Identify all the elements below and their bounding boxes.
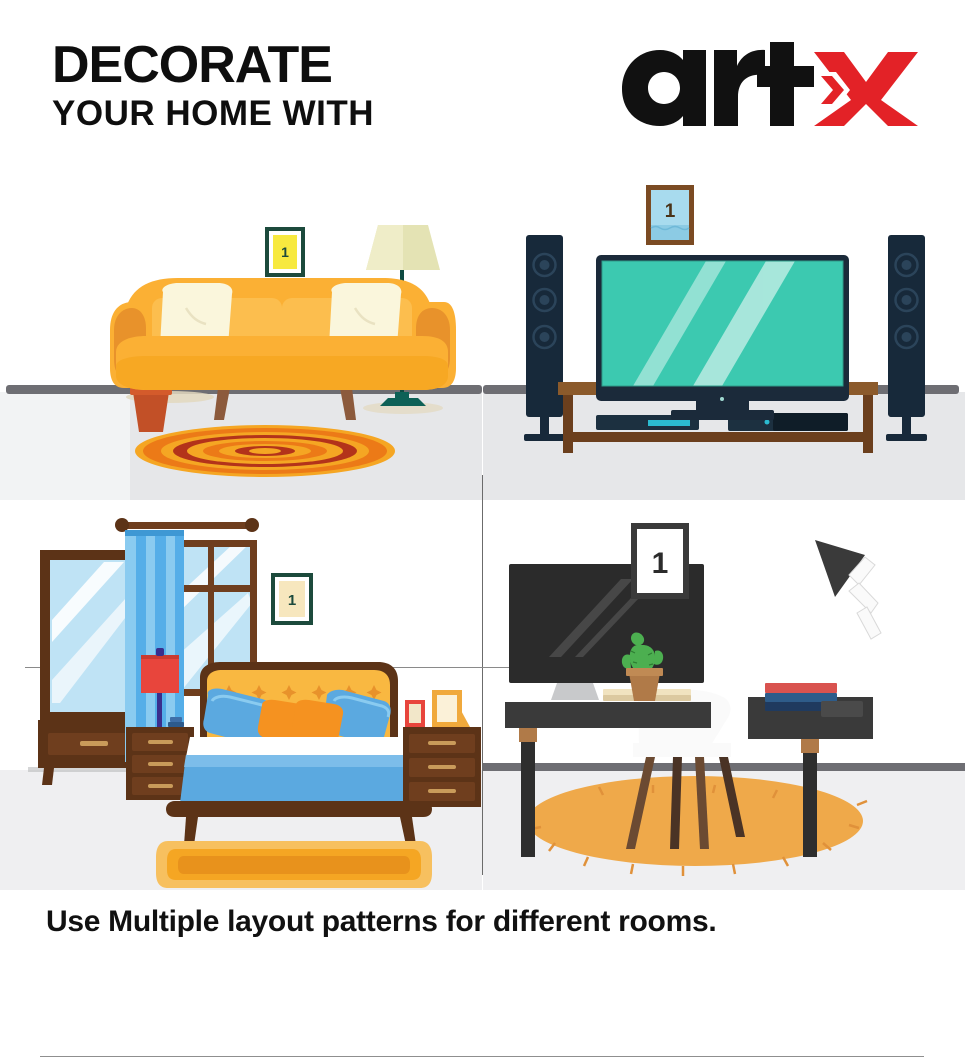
wall-art-frame-office[interactable]: 1 bbox=[631, 523, 689, 599]
headline-line-1: DECORATE bbox=[52, 38, 374, 92]
area-rug bbox=[156, 841, 432, 888]
scene-living-room: 1 bbox=[0, 170, 482, 500]
pillow-orange-right bbox=[292, 700, 343, 743]
bedroom-svg: 1 bbox=[0, 505, 482, 890]
desk-lamp bbox=[815, 540, 881, 645]
frame-label-living: 1 bbox=[281, 244, 289, 260]
nightstand-right bbox=[403, 727, 481, 807]
round-rug bbox=[135, 425, 395, 477]
home-office-svg: 1 bbox=[483, 505, 965, 890]
wall-art-frame-bedroom[interactable]: 1 bbox=[271, 573, 313, 625]
logo-letter-a bbox=[622, 50, 706, 126]
room-scenes-area: 1 bbox=[0, 170, 965, 890]
wall-art-frame-tv[interactable]: 1 bbox=[646, 185, 694, 245]
headline-line-2: YOUR HOME WITH bbox=[52, 94, 374, 134]
curtain-rod bbox=[115, 518, 259, 532]
tower-speaker-right bbox=[886, 235, 927, 441]
logo-letter-t bbox=[757, 42, 814, 126]
frame-label-office: 1 bbox=[652, 547, 669, 580]
artx-logo bbox=[618, 42, 918, 128]
artx-logo-svg bbox=[618, 42, 918, 128]
living-room-svg: 1 bbox=[0, 170, 482, 500]
living-room-floor-light bbox=[0, 392, 130, 500]
promo-poster: DECORATE YOUR HOME WITH bbox=[0, 0, 965, 1000]
logo-letter-x bbox=[814, 52, 918, 126]
poster-header: DECORATE YOUR HOME WITH bbox=[0, 0, 965, 170]
scene-bedroom: 1 bbox=[0, 505, 482, 890]
scene-home-office: 1 bbox=[483, 505, 965, 890]
scene-tv-room: 1 bbox=[483, 170, 965, 500]
poster-caption: Use Multiple layout patterns for differe… bbox=[46, 905, 926, 939]
tower-speaker-left bbox=[524, 235, 565, 441]
headline-block: DECORATE YOUR HOME WITH bbox=[52, 38, 374, 134]
photo-frames bbox=[405, 690, 470, 727]
television[interactable] bbox=[596, 255, 849, 420]
frame-label-tv: 1 bbox=[665, 201, 676, 222]
wall-art-frame-living[interactable]: 1 bbox=[265, 227, 305, 277]
logo-letter-r bbox=[714, 50, 765, 126]
frame-label-bedroom: 1 bbox=[288, 592, 296, 609]
tv-room-svg: 1 bbox=[483, 170, 965, 500]
